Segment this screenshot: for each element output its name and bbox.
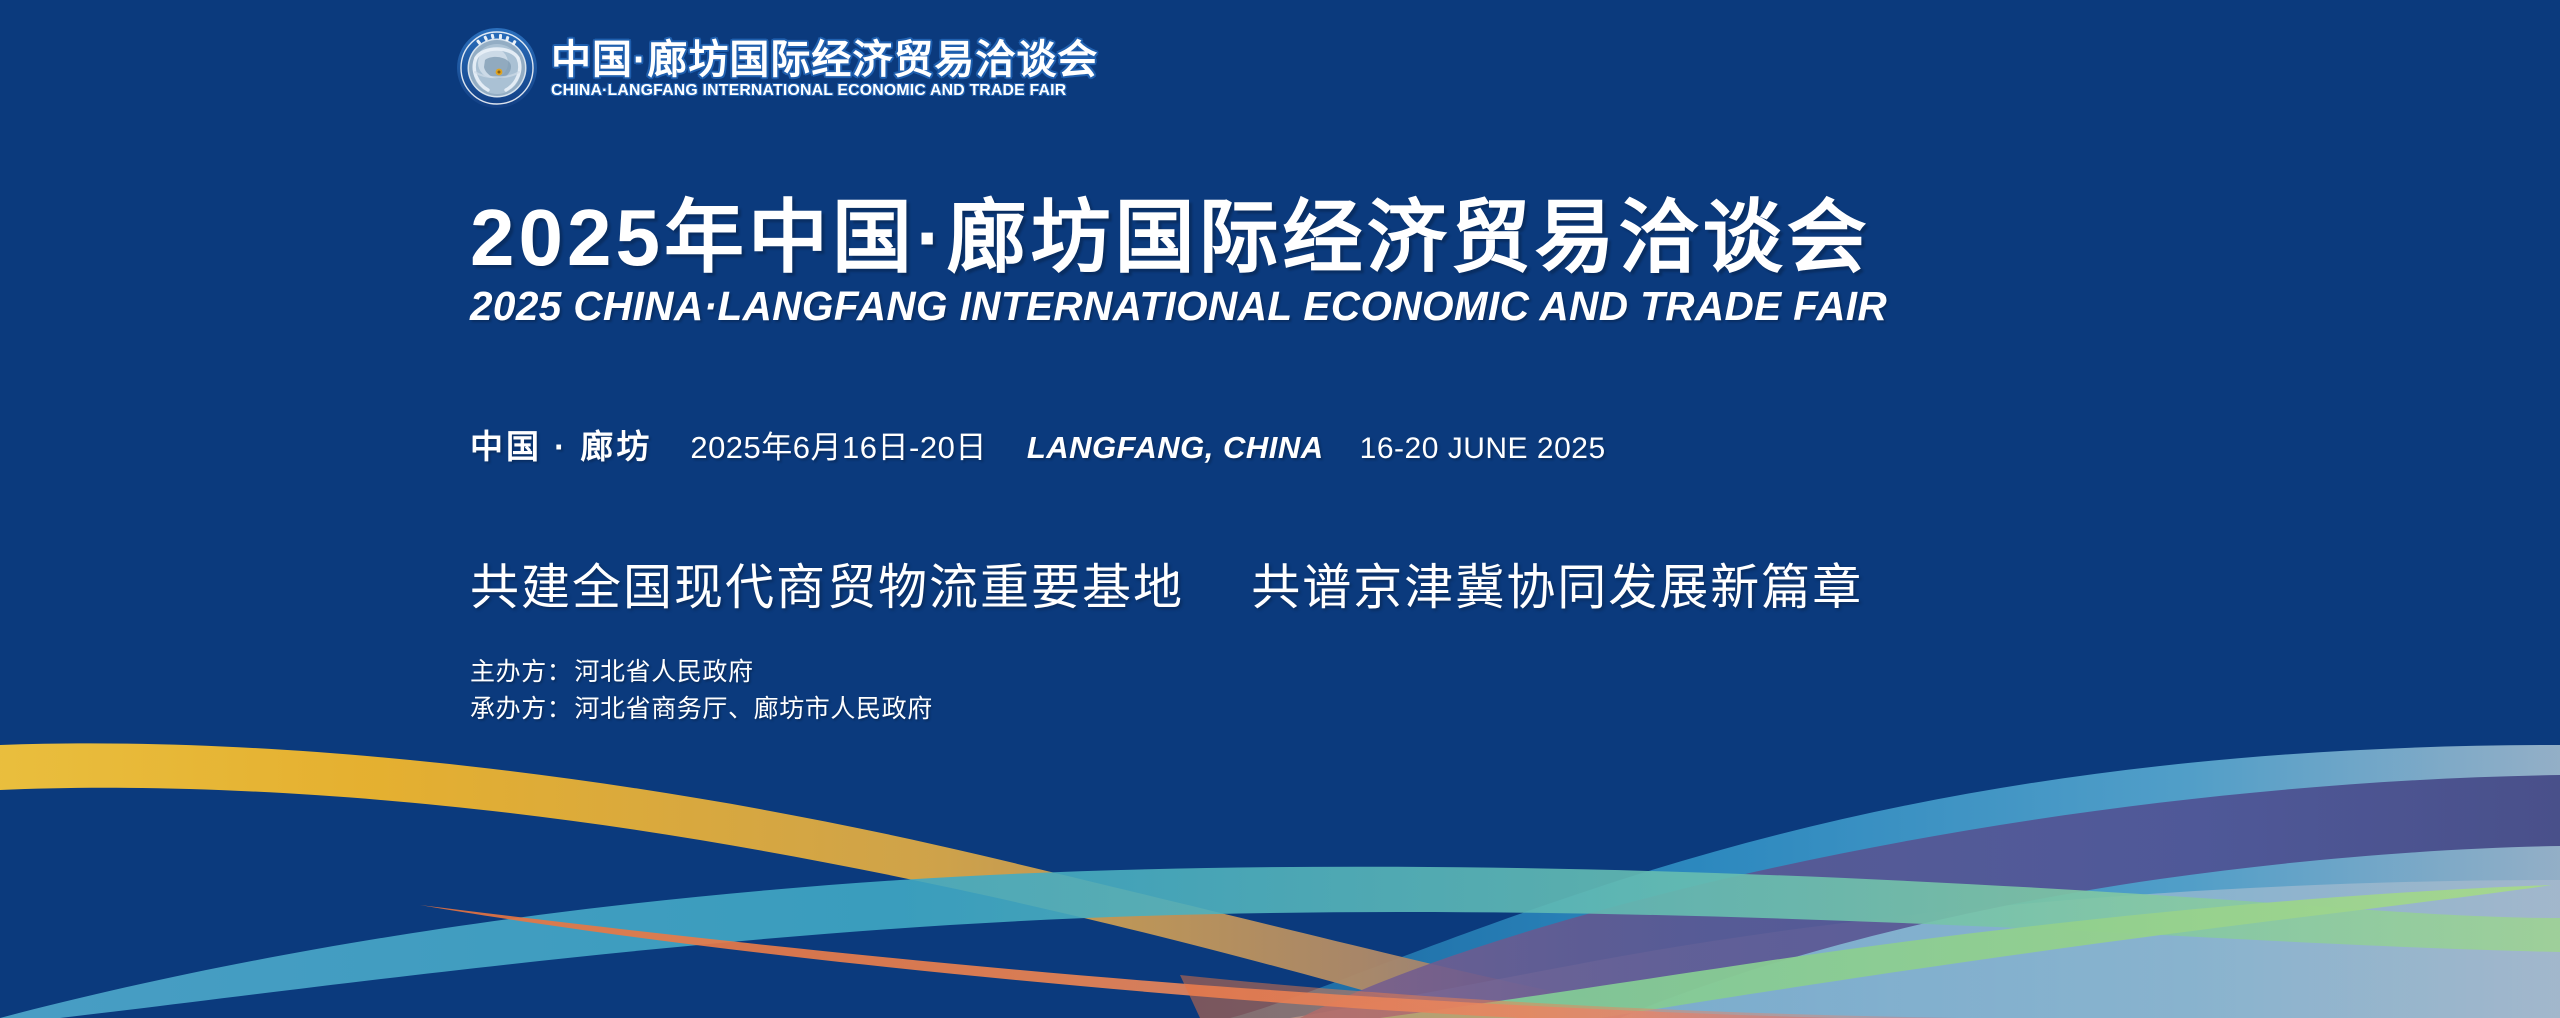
organizer-row-host: 主办方： 河北省人民政府: [470, 654, 933, 691]
event-slogan: 共建全国现代商贸物流重要基地 共谱京津冀协同发展新篇章: [470, 562, 1863, 616]
organizer-label-host: 主办方：: [470, 654, 572, 691]
event-title-en: 2025 CHINA·LANGFANG INTERNATIONAL ECONOM…: [470, 285, 2370, 328]
slogan-part-1: 共建全国现代商贸物流重要基地: [470, 561, 1184, 615]
wave-orange: [420, 905, 1840, 1018]
organizer-label-coorganizer: 承办方：: [470, 691, 572, 728]
dateline-city-cn: 中国 · 廊坊: [470, 420, 652, 468]
event-title-cn: 2025年中国·廊坊国际经济贸易洽谈会: [470, 196, 2370, 279]
logo-wordmark-en: CHINA·LANGFANG INTERNATIONAL ECONOMIC AN…: [551, 83, 1109, 99]
wave-blue-upper: [1230, 745, 2560, 1018]
dateline-date-en: 16-20 JUNE 2025: [1360, 432, 1606, 466]
organizer-row-coorganizer: 承办方： 河北省商务厅、廊坊市人民政府: [470, 691, 933, 728]
wave-green: [1380, 885, 2552, 1018]
decorative-wave-graphic: [0, 0, 2560, 1018]
event-dateline: 中国 · 廊坊 2025年6月16日-20日 LANGFANG, CHINA 1…: [470, 420, 1606, 468]
logo-wordmark: 中国·廊坊国际经济贸易洽谈会 CHINA·LANGFANG INTERNATIO…: [551, 36, 1098, 99]
headline-block: 2025年中国·廊坊国际经济贸易洽谈会 2025 CHINA·LANGFANG …: [470, 196, 2370, 328]
wave-pale: [1290, 880, 2560, 1018]
organizer-value-host: 河北省人民政府: [574, 654, 753, 691]
slogan-part-2: 共谱京津冀协同发展新篇章: [1251, 561, 1863, 615]
event-banner: 中国·廊坊国际经济贸易洽谈会 CHINA·LANGFANG INTERNATIO…: [0, 0, 2560, 1018]
fair-logo[interactable]: 中国·廊坊国际经济贸易洽谈会 CHINA·LANGFANG INTERNATIO…: [455, 22, 1098, 114]
wave-yellow: [0, 743, 1700, 1018]
organizer-list: 主办方： 河北省人民政府 承办方： 河北省商务厅、廊坊市人民政府: [470, 654, 933, 727]
dateline-date-cn: 2025年6月16日-20日: [690, 422, 987, 467]
wave-teal: [0, 867, 2560, 1018]
wave-purple: [1300, 775, 2560, 1018]
wave-orange-body: [1180, 975, 1960, 1018]
globe-emblem-icon: [455, 26, 539, 110]
dateline-city-en: LANGFANG, CHINA: [1027, 430, 1324, 466]
organizer-value-coorganizer: 河北省商务厅、廊坊市人民政府: [574, 691, 932, 728]
logo-wordmark-cn: 中国·廊坊国际经济贸易洽谈会: [551, 40, 1098, 80]
